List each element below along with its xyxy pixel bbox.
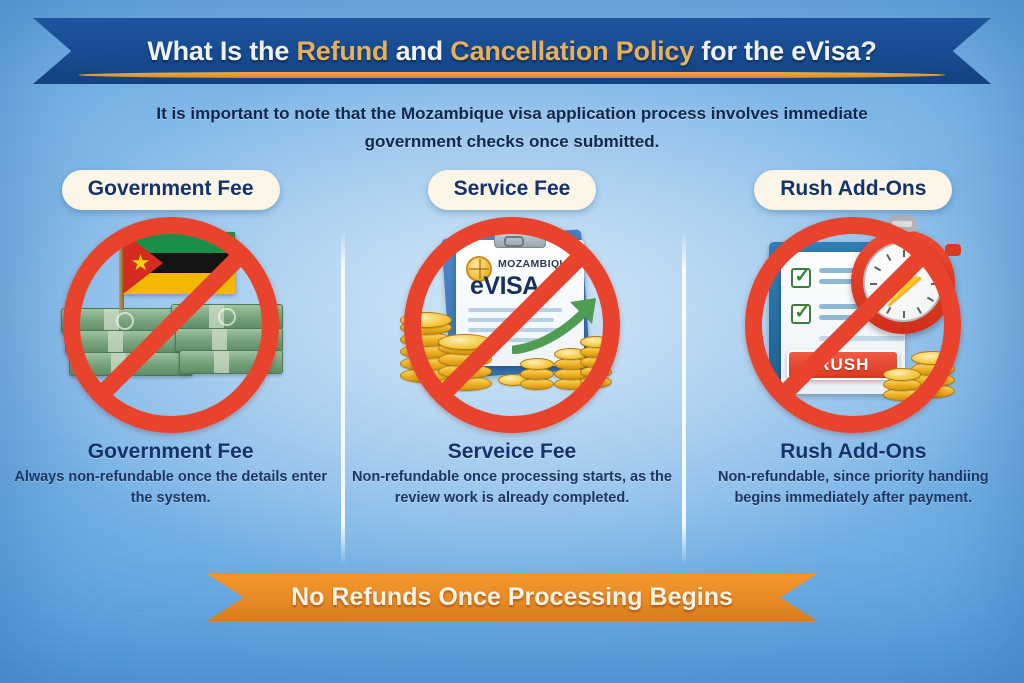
no-entry-icon: [404, 217, 620, 433]
caption-title: Rush Add-Ons: [693, 440, 1013, 464]
caption-body: Non-refundable, since priority handiing …: [693, 467, 1013, 509]
caption-government-fee: Government Fee Always non-refundable onc…: [11, 440, 331, 509]
no-entry-icon: [745, 217, 961, 433]
pill-label: Rush Add-Ons: [780, 177, 926, 201]
caption-body: Non-refundable once processing starts, a…: [352, 467, 672, 509]
page-title: What Is the Refund and Cancellation Poli…: [147, 36, 876, 67]
column-divider: [341, 230, 345, 565]
caption-title: Serveice Fee: [352, 440, 672, 464]
column-government-fee: Government Fee ★: [0, 170, 341, 570]
title-segment-4: for the eVisa?: [694, 36, 877, 66]
title-segment-3: Cancellation Policy: [450, 36, 694, 66]
stopwatch-side-button: [945, 244, 961, 256]
footer-banner-text: No Refunds Once Processing Begins: [291, 583, 733, 612]
pill-rush-addons: Rush Add-Ons: [754, 170, 952, 210]
subtitle-text: It is important to note that the Mozambi…: [120, 100, 904, 156]
title-segment-2: and: [388, 36, 450, 66]
pill-label: Service Fee: [454, 177, 571, 201]
pill-government-fee: Government Fee: [62, 170, 280, 210]
illustration-service-fee: MOZAMBIQUE eVISA: [394, 216, 630, 434]
pill-service-fee: Service Fee: [428, 170, 597, 210]
footer-banner: No Refunds Once Processing Begins: [207, 574, 817, 621]
title-segment-1: Refund: [296, 36, 388, 66]
column-divider: [682, 230, 686, 565]
infographic-canvas: What Is the Refund and Cancellation Poli…: [0, 0, 1024, 683]
caption-rush-addons: Rush Add-Ons Non-refundable, since prior…: [693, 440, 1013, 509]
title-underline-swoosh: [78, 72, 946, 78]
caption-service-fee: Serveice Fee Non-refundable once process…: [352, 440, 672, 509]
illustration-government-fee: ★: [53, 216, 289, 434]
caption-body: Always non-refundable once the details e…: [11, 467, 331, 509]
no-entry-icon: [63, 217, 279, 433]
illustration-rush-addons: RUSH: [735, 216, 971, 434]
caption-title: Government Fee: [11, 440, 331, 464]
column-rush-addons: Rush Add-Ons RUSH: [683, 170, 1024, 570]
column-service-fee: Service Fee MOZAMBIQUE eVISA: [341, 170, 682, 570]
pill-label: Government Fee: [88, 177, 254, 201]
title-segment-0: What Is the: [147, 36, 296, 66]
fee-columns: Government Fee ★: [0, 170, 1024, 570]
